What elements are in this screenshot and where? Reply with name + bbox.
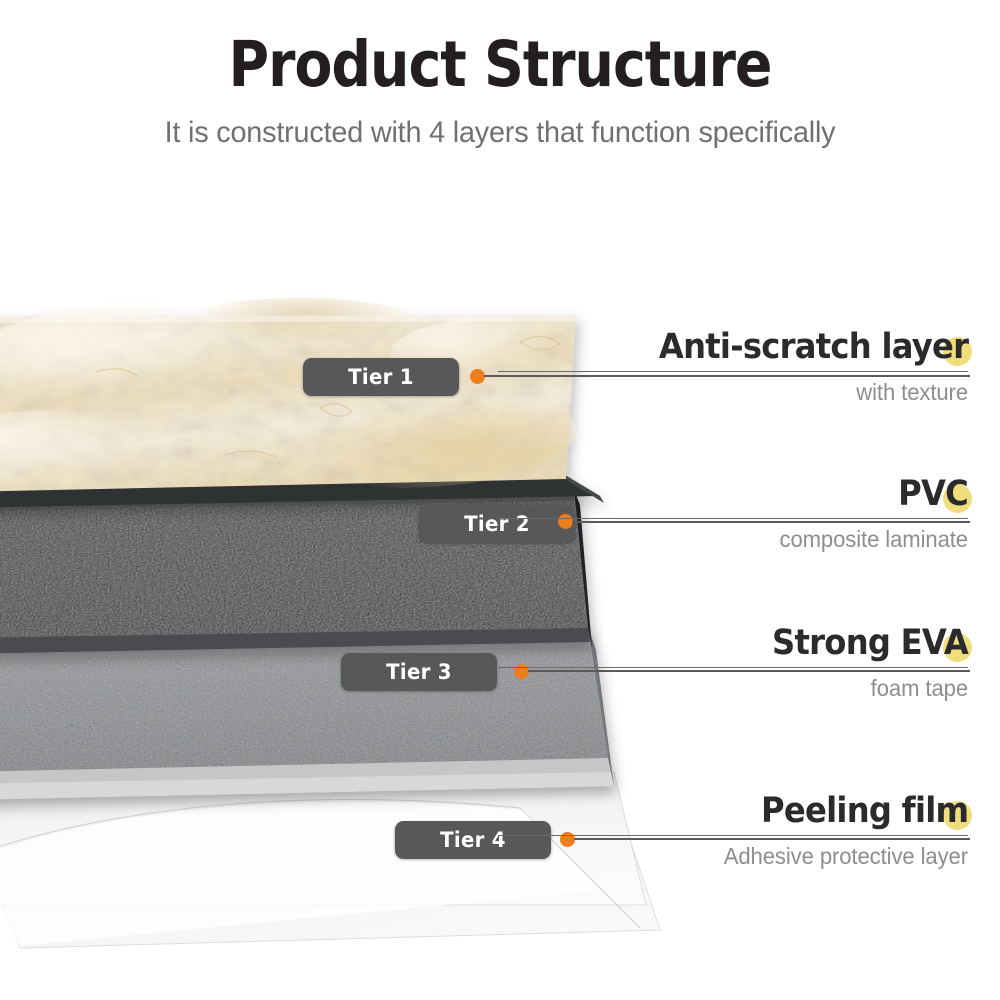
product-structure-infographic: Product Structure It is constructed with… [0,0,1000,1000]
callout-rule-4 [498,835,968,837]
callout-rule-1 [498,371,968,373]
callout-layer-1: Anti-scratch layer with texture [498,329,968,406]
callout-sublabel-2: composite laminate [517,526,968,553]
callout-heading-wrap-4: Peeling film [498,793,968,831]
callout-heading-wrap-1: Anti-scratch layer [498,329,968,367]
tier-badge-3[interactable]: Tier 3 [341,653,497,691]
callout-heading-2: PVC [898,476,968,514]
callout-layer-4: Peeling film Adhesive protective layer [498,793,968,870]
callout-heading-wrap-2: PVC [498,476,968,514]
callout-sublabel-4: Adhesive protective layer [517,843,968,870]
callout-heading-4: Peeling film [761,793,968,831]
callout-layer-2: PVC composite laminate [498,476,968,553]
callout-heading-3: Strong EVA [772,625,968,663]
callout-heading-wrap-3: Strong EVA [498,625,968,663]
callout-sublabel-1: with texture [517,379,968,406]
callout-layer-3: Strong EVA foam tape [498,625,968,702]
tier-badge-1[interactable]: Tier 1 [303,358,459,396]
callout-sublabel-3: foam tape [517,675,968,702]
callout-rule-2 [498,518,968,520]
connector-dot-1[interactable] [470,369,485,384]
callout-heading-1: Anti-scratch layer [659,329,968,367]
callout-rule-3 [498,667,968,669]
